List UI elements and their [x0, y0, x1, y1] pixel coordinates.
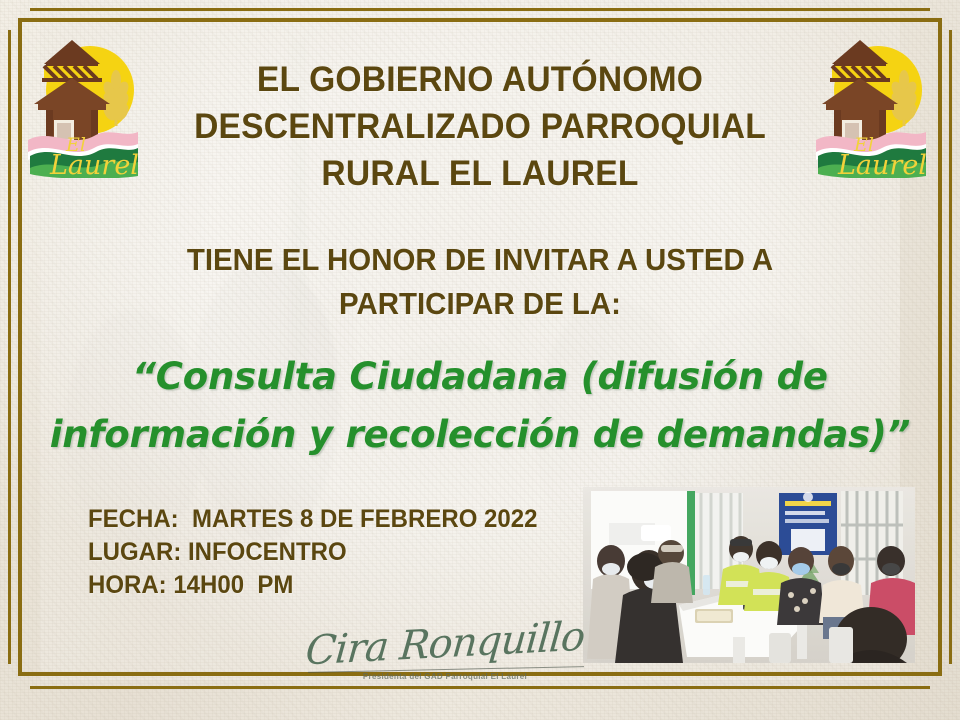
org-title-line-1: EL GOBIERNO AUTÓNOMO [163, 56, 797, 103]
detail-fecha: FECHA: MARTES 8 DE FEBRERO 2022 [88, 503, 537, 536]
meeting-photo-art [583, 487, 915, 663]
event-details: FECHA: MARTES 8 DE FEBRERO 2022 LUGAR: I… [88, 503, 537, 602]
frame-outer-top [18, 18, 942, 22]
detail-hora: HORA: 14H00 PM [88, 569, 537, 602]
invitation-text: TIENE EL HONOR DE INVITAR A USTED A PART… [138, 238, 822, 326]
el-laurel-logo-icon: El Laurel [24, 28, 142, 178]
logo-el-laurel-left: El Laurel [24, 28, 142, 178]
signature-role: Presidenta del GAD Parroquial El Laurel [300, 672, 590, 681]
org-title-line-2: DESCENTRALIZADO PARROQUIAL [163, 103, 797, 150]
invitation-line-1: TIENE EL HONOR DE INVITAR A USTED A [138, 238, 822, 282]
frame-inner-left [8, 30, 11, 664]
frame-outer-right [938, 18, 942, 676]
signature-block: Cira Ronquillo Presidenta del GAD Parroq… [300, 618, 590, 694]
event-title: “Consulta Ciudadana (difusión de informa… [40, 348, 920, 464]
el-laurel-logo-icon: El Laurel [812, 28, 930, 178]
frame-inner-top [30, 8, 930, 11]
logo-script-laurel: Laurel [49, 150, 139, 178]
invitation-line-2: PARTICIPAR DE LA: [138, 282, 822, 326]
org-title-line-3: RURAL EL LAUREL [163, 150, 797, 197]
detail-lugar: LUGAR: INFOCENTRO [88, 536, 537, 569]
logo-el-laurel-right: El Laurel [812, 28, 930, 178]
logo-script-laurel: Laurel [837, 150, 927, 178]
meeting-photo [583, 487, 915, 663]
organization-title: EL GOBIERNO AUTÓNOMO DESCENTRALIZADO PAR… [163, 56, 797, 197]
frame-outer-left [18, 18, 22, 676]
invitation-poster: El Laurel [0, 0, 960, 720]
event-title-line-2: información y recolección de demandas)” [40, 406, 920, 464]
frame-inner-right [949, 30, 952, 664]
event-title-line-1: “Consulta Ciudadana (difusión de [40, 348, 920, 406]
